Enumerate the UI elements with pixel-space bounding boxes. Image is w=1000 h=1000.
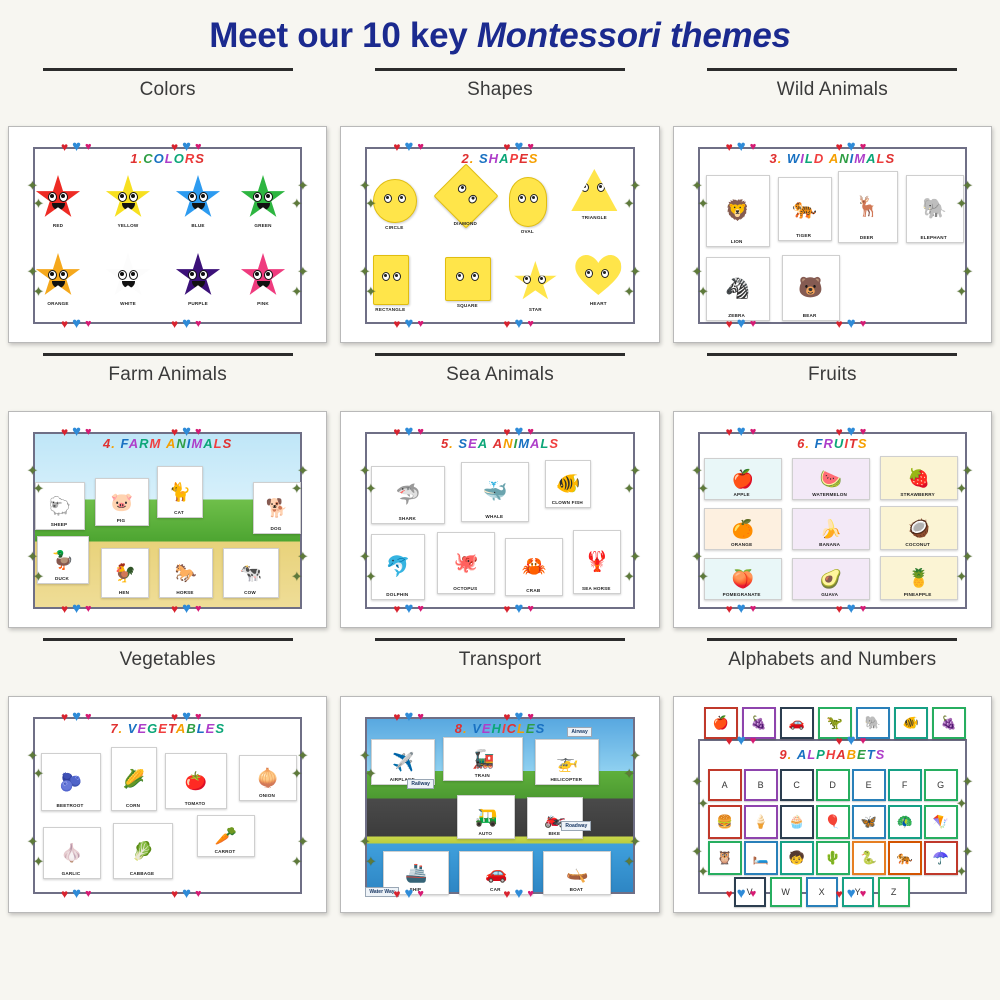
theme-header-transport: Transport (340, 628, 659, 696)
item-caption: COW (219, 590, 281, 595)
item-icon: 🐙 (454, 553, 479, 573)
sparkle-icon: ✦ (630, 464, 641, 477)
sparkle-icon: ✦ (962, 775, 973, 788)
alphabet-picture-card: 🍔 (708, 805, 742, 839)
color-star (105, 175, 151, 221)
sparkle-icon: ✦ (962, 265, 973, 278)
item-icon: 🦀 (522, 557, 547, 577)
item-caption: BANANA (788, 542, 872, 547)
item-icon: 🐻 (798, 278, 823, 298)
card-title: 8. VEHICLES (349, 721, 650, 736)
alphabet-letter-card: A (708, 769, 742, 801)
item-caption: CLOWN FISH (541, 500, 593, 505)
page-title-emphasis: Montessori themes (477, 16, 791, 55)
sparkle-icon: ✦ (291, 285, 302, 298)
sparkle-icon: ✦ (624, 767, 635, 780)
heart-cluster: ♥♥♥ (61, 888, 92, 900)
item-caption: PINEAPPLE (876, 592, 960, 597)
sparkle-icon: ✦ (33, 767, 44, 780)
item-caption: BOAT (539, 887, 613, 892)
theme-cell-colors: Colors ♥♥♥ ♥♥♥ ♥♥♥ ♥♥♥ ✦ ✦ ✦ ✦ ✦ (8, 58, 327, 343)
theme-label: Alphabets and Numbers (728, 647, 936, 672)
item-icon: 🍍 (907, 569, 929, 587)
picture-tile: 🦌 (838, 171, 898, 243)
theme-header-farm-animals: Farm Animals (8, 343, 327, 411)
card-title: 4. FARM ANIMALS (17, 436, 318, 451)
sparkle-icon: ✦ (365, 285, 376, 298)
theme-cell-transport: Transport ♥♥♥ ♥♥♥ ♥♥♥ ♥♥♥ ✦ ✦ ✦ ✦ ✦ ✦ ✦ (340, 628, 659, 913)
item-caption: TRAIN (439, 773, 525, 778)
item-caption: OCTOPUS (433, 586, 497, 591)
theme-cell-wild-animals: Wild Animals ♥♥♥ ♥♥♥ ♥♥♥ ♥♥♥ ✦ ✦ ✦ ✦ ✦ (673, 58, 992, 343)
heart-cluster: ♥♥♥ (393, 888, 424, 900)
item-caption: BLUE (169, 223, 227, 228)
sparkle-icon: ✦ (27, 179, 38, 192)
theme-card-transport[interactable]: ♥♥♥ ♥♥♥ ♥♥♥ ♥♥♥ ✦ ✦ ✦ ✦ ✦ ✦ ✦ ✦ 8. VEHIC… (340, 696, 659, 913)
sparkle-icon: ✦ (624, 855, 635, 868)
item-caption: ORANGE (700, 542, 784, 547)
shape-chick (373, 179, 415, 221)
scene-label: Railway (407, 779, 434, 789)
sparkle-icon: ✦ (297, 179, 308, 192)
sparkle-icon: ✦ (359, 265, 370, 278)
alphabet-letter-card: E (852, 769, 886, 801)
item-icon: 🧅 (257, 769, 279, 787)
sparkle-icon: ✦ (692, 845, 703, 858)
heart-cluster: ♥♥♥ (836, 603, 867, 615)
theme-label: Colors (140, 77, 196, 102)
sparkle-icon: ✦ (365, 570, 376, 583)
alphabet-letter-card: D (816, 769, 850, 801)
card-title: 1.COLORS (17, 151, 318, 166)
color-star (240, 253, 286, 299)
item-caption: CORN (107, 803, 159, 808)
sparkle-icon: ✦ (956, 570, 967, 583)
alphabet-picture-card: 🚗 (780, 707, 814, 739)
item-caption: POMEGRANATE (700, 592, 784, 597)
sparkle-icon: ✦ (33, 482, 44, 495)
sparkle-icon: ✦ (962, 464, 973, 477)
theme-card-fruits[interactable]: ♥♥♥ ♥♥♥ ♥♥♥ ♥♥♥ ✦ ✦ ✦ ✦ ✦ ✦ ✦ ✦ 6. FRUIT… (673, 411, 992, 628)
sparkle-icon: ✦ (297, 835, 308, 848)
item-icon: 🐠 (556, 474, 581, 494)
alphabet-picture-card: 🐅 (888, 841, 922, 875)
alphabet-picture-card: 🦉 (708, 841, 742, 875)
sparkle-icon: ✦ (297, 749, 308, 762)
item-caption: WATERMELON (788, 492, 872, 497)
sparkle-icon: ✦ (698, 570, 709, 583)
picture-tile: 🐙 (437, 532, 495, 594)
sparkle-icon: ✦ (698, 285, 709, 298)
item-caption: SQUARE (437, 303, 497, 308)
heart-cluster: ♥♥♥ (503, 603, 534, 615)
theme-label: Farm Animals (108, 362, 227, 387)
heart-cluster: ♥♥♥ (393, 603, 424, 615)
color-star (240, 175, 286, 221)
sparkle-icon: ✦ (962, 179, 973, 192)
page-title-prefix: Meet our 10 key (209, 16, 477, 55)
card-title: 6. FRUITS (682, 436, 983, 451)
sparkle-icon: ✦ (624, 570, 635, 583)
theme-label: Shapes (467, 77, 533, 102)
item-caption: DEER (834, 235, 900, 240)
sparkle-icon: ✦ (27, 550, 38, 563)
picture-tile: 🌽 (111, 747, 157, 811)
header-rule (43, 353, 293, 356)
heart-cluster: ♥♥♥ (171, 603, 202, 615)
item-caption: WHALE (457, 514, 531, 519)
sparkle-icon: ✦ (291, 197, 302, 210)
shape-chick (513, 261, 557, 303)
item-caption: TIGER (774, 233, 834, 238)
item-icon: 🦆 (52, 551, 74, 569)
heart-cluster: ♥♥♥ (726, 318, 757, 330)
theme-header-vegetables: Vegetables (8, 628, 327, 696)
item-icon: 🐬 (386, 557, 411, 577)
heart-cluster: ♥♥♥ (171, 888, 202, 900)
page-title: Meet our 10 key Montessori themes (0, 0, 1000, 58)
sparkle-icon: ✦ (624, 197, 635, 210)
scene-label: Roadway (561, 821, 591, 831)
card-title: 2. SHAPES (349, 151, 650, 166)
sparkle-icon: ✦ (624, 482, 635, 495)
heart-cluster: ♥♥♥ (393, 318, 424, 330)
alphabet-picture-card: 🌵 (816, 841, 850, 875)
item-caption: CIRCLE (365, 225, 423, 230)
item-icon: 🫐 (60, 773, 82, 791)
item-caption: TOMATO (161, 801, 229, 806)
header-rule (375, 68, 625, 71)
alphabet-picture-card: 🐠 (894, 707, 928, 739)
item-icon: 🍓 (907, 469, 929, 487)
item-icon: 🐘 (922, 199, 947, 219)
theme-header-sea-animals: Sea Animals (340, 343, 659, 411)
shape-chick (509, 177, 545, 225)
item-icon: ✈️ (392, 753, 414, 771)
item-icon: 🌽 (123, 770, 145, 788)
theme-label: Fruits (808, 362, 857, 387)
item-caption: AUTO (453, 831, 517, 836)
theme-cell-fruits: Fruits ♥♥♥ ♥♥♥ ♥♥♥ ♥♥♥ ✦ ✦ ✦ ✦ ✦ (673, 343, 992, 628)
sparkle-icon: ✦ (297, 550, 308, 563)
item-caption: SHARK (367, 516, 447, 521)
header-rule (43, 68, 293, 71)
alphabet-letter-card: C (780, 769, 814, 801)
sparkle-icon: ✦ (297, 265, 308, 278)
sparkle-icon: ✦ (365, 767, 376, 780)
poster-root: Meet our 10 key Montessori themes Colors… (0, 0, 1000, 1000)
item-icon: 🥑 (819, 570, 841, 588)
item-caption: CAT (153, 510, 205, 515)
item-caption: DOLPHIN (367, 592, 427, 597)
heart-cluster: ♥♥♥ (503, 318, 534, 330)
alphabet-letter-card: Z (878, 877, 910, 907)
theme-card-vegetables[interactable]: ♥♥♥ ♥♥♥ ♥♥♥ ♥♥♥ ✦ ✦ ✦ ✦ ✦ ✦ ✦ ✦ 7. VEGET… (8, 696, 327, 913)
item-caption: HORSE (155, 590, 215, 595)
sparkle-icon: ✦ (359, 464, 370, 477)
shape-chick (575, 255, 621, 297)
sparkle-icon: ✦ (630, 265, 641, 278)
picture-tile: 🐬 (371, 534, 425, 600)
item-caption: GARLIC (39, 871, 103, 876)
item-caption: GUAVA (788, 592, 872, 597)
item-caption: BIKE (523, 831, 585, 836)
sparkle-icon: ✦ (630, 550, 641, 563)
sparkle-icon: ✦ (698, 865, 709, 878)
alphabet-picture-card: 🦚 (888, 805, 922, 839)
item-icon: 🥕 (215, 827, 237, 845)
shape-chick (445, 257, 489, 299)
item-icon: 🍅 (185, 772, 207, 790)
theme-header-alphabets: Alphabets and Numbers (673, 628, 992, 696)
shape-chick (373, 255, 407, 303)
sparkle-icon: ✦ (630, 179, 641, 192)
item-icon: 🐕 (266, 499, 288, 517)
item-icon: 🦞 (585, 552, 610, 572)
item-caption: SHEEP (31, 522, 87, 527)
theme-cell-shapes: Shapes ♥♥♥ ♥♥♥ ♥♥♥ ♥♥♥ ✦ ✦ ✦ ✦ ✦ (340, 58, 659, 343)
item-caption: HEN (97, 590, 151, 595)
header-rule (43, 638, 293, 641)
item-icon: 🧄 (61, 844, 83, 862)
item-caption: STRAWBERRY (876, 492, 960, 497)
theme-card-farm-animals[interactable]: ♥♥♥ ♥♥♥ ♥♥♥ ♥♥♥ ✦ ✦ ✦ ✦ ✦ ✦ ✦ ✦ 4. FARM … (8, 411, 327, 628)
item-icon: 🐓 (114, 564, 136, 582)
item-caption: ONION (235, 793, 299, 798)
header-rule (707, 353, 957, 356)
sparkle-icon: ✦ (956, 285, 967, 298)
item-caption: LION (702, 239, 772, 244)
heart-cluster: ♥♥♥ (836, 735, 867, 747)
picture-tile: 🐳 (461, 462, 529, 522)
item-icon: 🛶 (566, 864, 588, 882)
item-icon: 🐈 (169, 483, 191, 501)
theme-header-shapes: Shapes (340, 58, 659, 126)
item-icon: 🥥 (907, 519, 929, 537)
sparkle-icon: ✦ (33, 570, 44, 583)
sparkle-icon: ✦ (297, 464, 308, 477)
card-title: 3. WILD ANIMALS (682, 151, 983, 166)
picture-tile: 🐘 (906, 175, 964, 243)
theme-label: Wild Animals (777, 77, 888, 102)
picture-tile: 🦓 (706, 257, 770, 321)
sparkle-icon: ✦ (359, 179, 370, 192)
alphabet-picture-card: 🍇 (932, 707, 966, 739)
item-icon: 🍌 (819, 520, 841, 538)
item-caption: YELLOW (99, 223, 157, 228)
item-icon: 🍑 (731, 570, 753, 588)
theme-label: Transport (459, 647, 541, 672)
card-title: 7. VEGETABLES (17, 721, 318, 736)
item-icon: 🚁 (556, 753, 578, 771)
item-caption: APPLE (700, 492, 784, 497)
sparkle-icon: ✦ (27, 464, 38, 477)
item-caption: RECTANGLE (365, 307, 415, 312)
item-icon: 🦈 (396, 485, 421, 505)
picture-tile: 🐅 (778, 177, 832, 241)
item-caption: BEAR (778, 313, 842, 318)
theme-header-wild-animals: Wild Animals (673, 58, 992, 126)
sparkle-icon: ✦ (359, 749, 370, 762)
item-caption: HELICOPTER (531, 777, 601, 782)
heart-cluster: ♥♥♥ (726, 888, 757, 900)
sparkle-icon: ✦ (630, 749, 641, 762)
header-rule (707, 68, 957, 71)
sparkle-icon: ✦ (692, 179, 703, 192)
item-caption: WHITE (99, 301, 157, 306)
item-caption: PURPLE (169, 301, 227, 306)
alphabet-letter-card: B (744, 769, 778, 801)
sparkle-icon: ✦ (698, 482, 709, 495)
heart-cluster: ♥♥♥ (503, 888, 534, 900)
item-caption: CABBAGE (109, 871, 175, 876)
sparkle-icon: ✦ (27, 835, 38, 848)
heart-cluster: ♥♥♥ (726, 735, 757, 747)
sparkle-icon: ✦ (692, 265, 703, 278)
sparkle-icon: ✦ (359, 835, 370, 848)
alphabet-picture-card: 🛏️ (744, 841, 778, 875)
item-icon: 🦌 (855, 197, 880, 217)
sparkle-icon: ✦ (27, 749, 38, 762)
theme-cell-farm-animals: Farm Animals ♥♥♥ ♥♥♥ ♥♥♥ ♥♥♥ ✦ ✦ ✦ ✦ ✦ ✦… (8, 343, 327, 628)
alphabet-letter-card: X (806, 877, 838, 907)
sparkle-icon: ✦ (698, 197, 709, 210)
theme-card-wild-animals[interactable]: ♥♥♥ ♥♥♥ ♥♥♥ ♥♥♥ ✦ ✦ ✦ ✦ ✦ ✦ ✦ ✦ 3. WILD … (673, 126, 992, 343)
header-rule (375, 638, 625, 641)
item-caption: STAR (505, 307, 565, 312)
item-icon: 🚂 (472, 750, 494, 768)
sparkle-icon: ✦ (956, 865, 967, 878)
card-title: 5. SEA ANIMALS (349, 436, 650, 451)
theme-label: Sea Animals (446, 362, 554, 387)
theme-card-colors[interactable]: ♥♥♥ ♥♥♥ ♥♥♥ ♥♥♥ ✦ ✦ ✦ ✦ ✦ ✦ ✦ ✦ 1.COLORS… (8, 126, 327, 343)
alphabet-picture-card: ☂️ (924, 841, 958, 875)
sparkle-icon: ✦ (291, 767, 302, 780)
alphabet-picture-card: 🪁 (924, 805, 958, 839)
sparkle-icon: ✦ (956, 482, 967, 495)
item-icon: 🍊 (731, 520, 753, 538)
color-star (175, 175, 221, 221)
sparkle-icon: ✦ (365, 855, 376, 868)
sparkle-icon: ✦ (956, 197, 967, 210)
item-icon: 🍎 (731, 470, 753, 488)
theme-cell-sea-animals: Sea Animals ♥♥♥ ♥♥♥ ♥♥♥ ♥♥♥ ✦ ✦ ✦ ✦ ✦ (340, 343, 659, 628)
item-caption: GREEN (234, 223, 292, 228)
heart-cluster: ♥♥♥ (61, 318, 92, 330)
item-caption: PIG (91, 518, 151, 523)
shape-chick (571, 169, 617, 211)
picture-tile: 🐻 (782, 255, 840, 321)
theme-cell-vegetables: Vegetables ♥♥♥ ♥♥♥ ♥♥♥ ♥♥♥ ✦ ✦ ✦ ✦ ✦ (8, 628, 327, 913)
sparkle-icon: ✦ (291, 482, 302, 495)
header-rule (707, 638, 957, 641)
sparkle-icon: ✦ (33, 197, 44, 210)
theme-header-fruits: Fruits (673, 343, 992, 411)
themes-grid: Colors ♥♥♥ ♥♥♥ ♥♥♥ ♥♥♥ ✦ ✦ ✦ ✦ ✦ (0, 58, 1000, 913)
sparkle-icon: ✦ (962, 550, 973, 563)
item-caption: ORANGE (29, 301, 87, 306)
sparkle-icon: ✦ (692, 550, 703, 563)
item-caption: SEA HORSE (569, 586, 623, 591)
sparkle-icon: ✦ (365, 197, 376, 210)
item-icon: 🛺 (475, 808, 497, 826)
sparkle-icon: ✦ (956, 797, 967, 810)
sparkle-icon: ✦ (692, 775, 703, 788)
item-icon: 🐑 (49, 497, 71, 515)
sparkle-icon: ✦ (698, 797, 709, 810)
item-caption: DIAMOND (435, 221, 495, 226)
item-caption: CARROT (193, 849, 257, 854)
sparkle-icon: ✦ (291, 855, 302, 868)
sparkle-icon: ✦ (359, 550, 370, 563)
heart-cluster: ♥♥♥ (836, 888, 867, 900)
alphabet-letter-card: G (924, 769, 958, 801)
theme-header-colors: Colors (8, 58, 327, 126)
heart-cluster: ♥♥♥ (836, 318, 867, 330)
theme-card-alphabets[interactable]: ♥♥♥ ♥♥♥ ♥♥♥ ♥♥♥ ✦ ✦ ✦ ✦ ✦ ✦ ✦ ✦ 9. ALPHA… (673, 696, 992, 913)
item-caption: ELEPHANT (902, 235, 966, 240)
color-star (105, 253, 151, 299)
item-icon: 🥬 (132, 842, 154, 860)
sparkle-icon: ✦ (27, 265, 38, 278)
sparkle-icon: ✦ (33, 285, 44, 298)
heart-cluster: ♥♥♥ (726, 603, 757, 615)
item-icon: 🦁 (725, 201, 750, 221)
sparkle-icon: ✦ (291, 570, 302, 583)
sparkle-icon: ✦ (624, 285, 635, 298)
item-caption: BEETROOT (37, 803, 103, 808)
item-caption: COCONUT (876, 542, 960, 547)
item-icon: 🍉 (819, 470, 841, 488)
theme-card-shapes[interactable]: ♥♥♥ ♥♥♥ ♥♥♥ ♥♥♥ ✦ ✦ ✦ ✦ ✦ ✦ ✦ ✦ 2. SHAPE… (340, 126, 659, 343)
sparkle-icon: ✦ (365, 482, 376, 495)
item-caption: PINK (234, 301, 292, 306)
item-caption: DOG (249, 526, 303, 531)
alphabet-letter-card: F (888, 769, 922, 801)
theme-card-sea-animals[interactable]: ♥♥♥ ♥♥♥ ♥♥♥ ♥♥♥ ✦ ✦ ✦ ✦ ✦ ✦ ✦ ✦ 5. SEA A… (340, 411, 659, 628)
item-icon: 🚢 (405, 864, 427, 882)
alphabet-picture-card: 🧁 (780, 805, 814, 839)
item-icon: 🐎 (175, 564, 197, 582)
item-icon: 🐷 (111, 493, 133, 511)
item-icon: 🐳 (483, 482, 508, 502)
item-caption: OVAL (501, 229, 553, 234)
sparkle-icon: ✦ (630, 835, 641, 848)
card-title: 9. ALPHABETS (682, 747, 983, 762)
item-caption: TRIANGLE (563, 215, 625, 220)
sparkle-icon: ✦ (962, 845, 973, 858)
alphabet-picture-card: 🦋 (852, 805, 886, 839)
header-rule (375, 353, 625, 356)
theme-cell-alphabets: Alphabets and Numbers ♥♥♥ ♥♥♥ ♥♥♥ ♥♥♥ ✦ … (673, 628, 992, 913)
alphabet-letter-card: W (770, 877, 802, 907)
item-caption: HEART (567, 301, 629, 306)
item-caption: RED (29, 223, 87, 228)
item-icon: 🚗 (485, 864, 507, 882)
heart-cluster: ♥♥♥ (61, 603, 92, 615)
item-icon: 🐄 (240, 564, 262, 582)
item-icon: 🦓 (725, 279, 750, 299)
picture-tile: 🦁 (706, 175, 770, 247)
sparkle-icon: ✦ (33, 855, 44, 868)
heart-cluster: ♥♥♥ (171, 318, 202, 330)
item-caption: CRAB (501, 588, 565, 593)
theme-label: Vegetables (120, 647, 216, 672)
picture-tile: 🦞 (573, 530, 621, 594)
alphabet-picture-card: 🐍 (852, 841, 886, 875)
item-icon: 🐅 (792, 199, 817, 219)
sparkle-icon: ✦ (692, 464, 703, 477)
